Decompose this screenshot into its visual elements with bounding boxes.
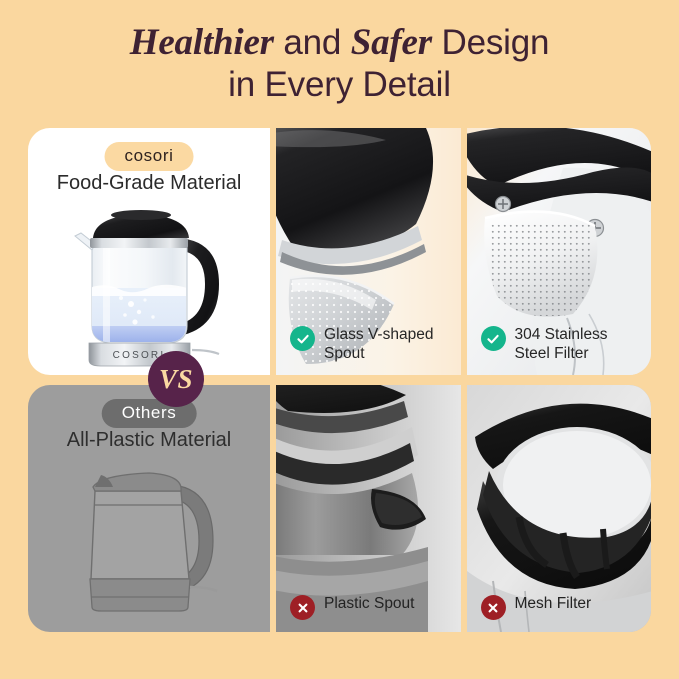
- cross-icon: [481, 595, 506, 620]
- cosori-panel-heading: Food-Grade Material: [28, 172, 270, 195]
- feature-label: Plastic Spout: [324, 594, 414, 613]
- vs-badge-label: VS: [159, 364, 193, 395]
- comparison-row-others: Others All-Plastic Material: [28, 385, 651, 632]
- page-title: Healthier and Safer Design in Every Deta…: [0, 22, 679, 106]
- feature-label: Mesh Filter: [515, 594, 592, 613]
- vs-badge: VS: [148, 351, 204, 407]
- cosori-spout-photo-panel: Glass V-shaped Spout: [276, 128, 460, 375]
- feature-chip-plastic-spout: Plastic Spout: [290, 594, 414, 620]
- title-line-1: Healthier and Safer Design: [0, 22, 679, 64]
- others-kettle-image: [61, 457, 237, 628]
- title-line-2: in Every Detail: [0, 64, 679, 106]
- check-icon: [481, 326, 506, 351]
- title-conjunction: and: [274, 23, 351, 62]
- cross-icon: [290, 595, 315, 620]
- feature-label: Glass V-shaped Spout: [324, 325, 454, 363]
- others-spout-photo-panel: Plastic Spout: [276, 385, 460, 632]
- screw-icon: [495, 197, 510, 212]
- feature-chip-glass-spout: Glass V-shaped Spout: [290, 325, 454, 363]
- feature-chip-steel-filter: 304 Stainless Steel Filter: [481, 325, 645, 363]
- cosori-kettle-image: COSORI: [59, 200, 239, 375]
- cosori-product-panel: cosori Food-Grade Material: [28, 128, 270, 375]
- comparison-row-cosori: cosori Food-Grade Material: [28, 128, 651, 375]
- others-filter-photo-panel: Mesh Filter: [467, 385, 651, 632]
- cosori-filter-photo-panel: 304 Stainless Steel Filter: [467, 128, 651, 375]
- others-panel-heading: All-Plastic Material: [28, 429, 270, 452]
- title-emphasis-safer: Safer: [351, 22, 432, 63]
- feature-chip-mesh-filter: Mesh Filter: [481, 594, 592, 620]
- title-word-design: Design: [432, 23, 549, 62]
- title-emphasis-healthier: Healthier: [130, 22, 274, 63]
- check-icon: [290, 326, 315, 351]
- others-product-panel: Others All-Plastic Material: [28, 385, 270, 632]
- feature-label: 304 Stainless Steel Filter: [515, 325, 645, 363]
- comparison-grid: cosori Food-Grade Material: [28, 128, 651, 632]
- brand-badge-cosori: cosori: [105, 142, 194, 171]
